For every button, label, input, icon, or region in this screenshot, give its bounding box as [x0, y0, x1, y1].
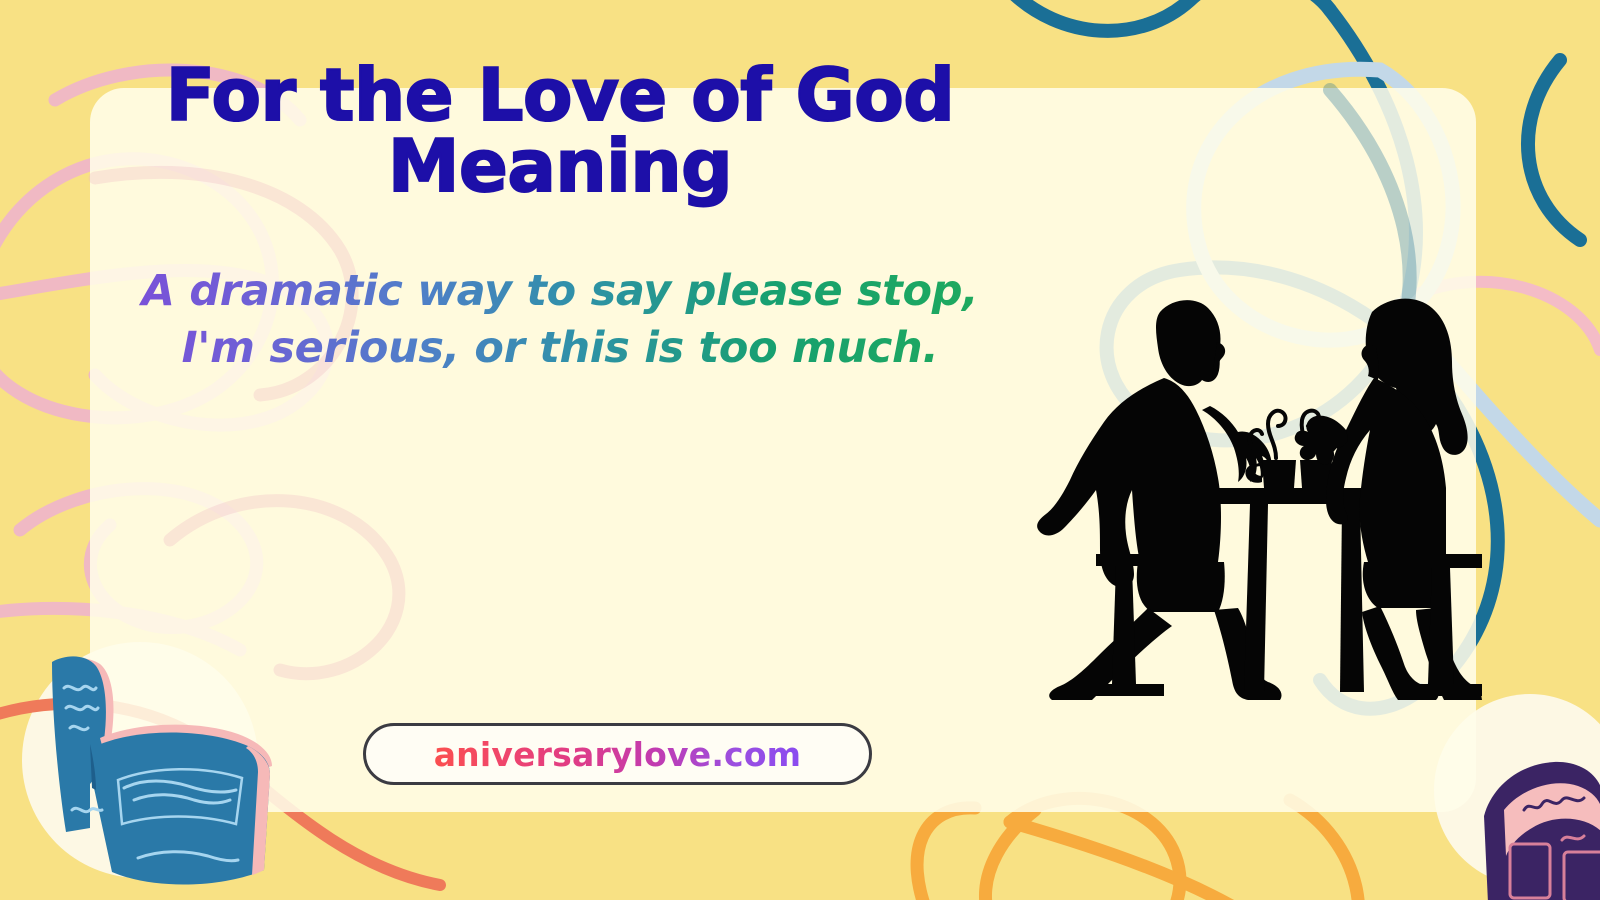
couple-at-cafe-table-silhouette-icon — [1012, 282, 1482, 700]
open-book-icon — [8, 622, 308, 900]
website-url-badge[interactable]: aniversarylove.com — [363, 723, 872, 785]
website-url-text: aniversarylove.com — [434, 735, 802, 774]
subtitle-text: A dramatic way to say please stop, I'm s… — [120, 263, 1000, 377]
page-title: For the Love of God Meaning — [120, 60, 1000, 201]
orange-squiggle-icon — [917, 798, 1359, 900]
poster-canvas: For the Love of God Meaning A dramatic w… — [0, 0, 1600, 900]
open-book-icon — [1470, 748, 1600, 900]
text-column: For the Love of God Meaning A dramatic w… — [120, 60, 1000, 377]
